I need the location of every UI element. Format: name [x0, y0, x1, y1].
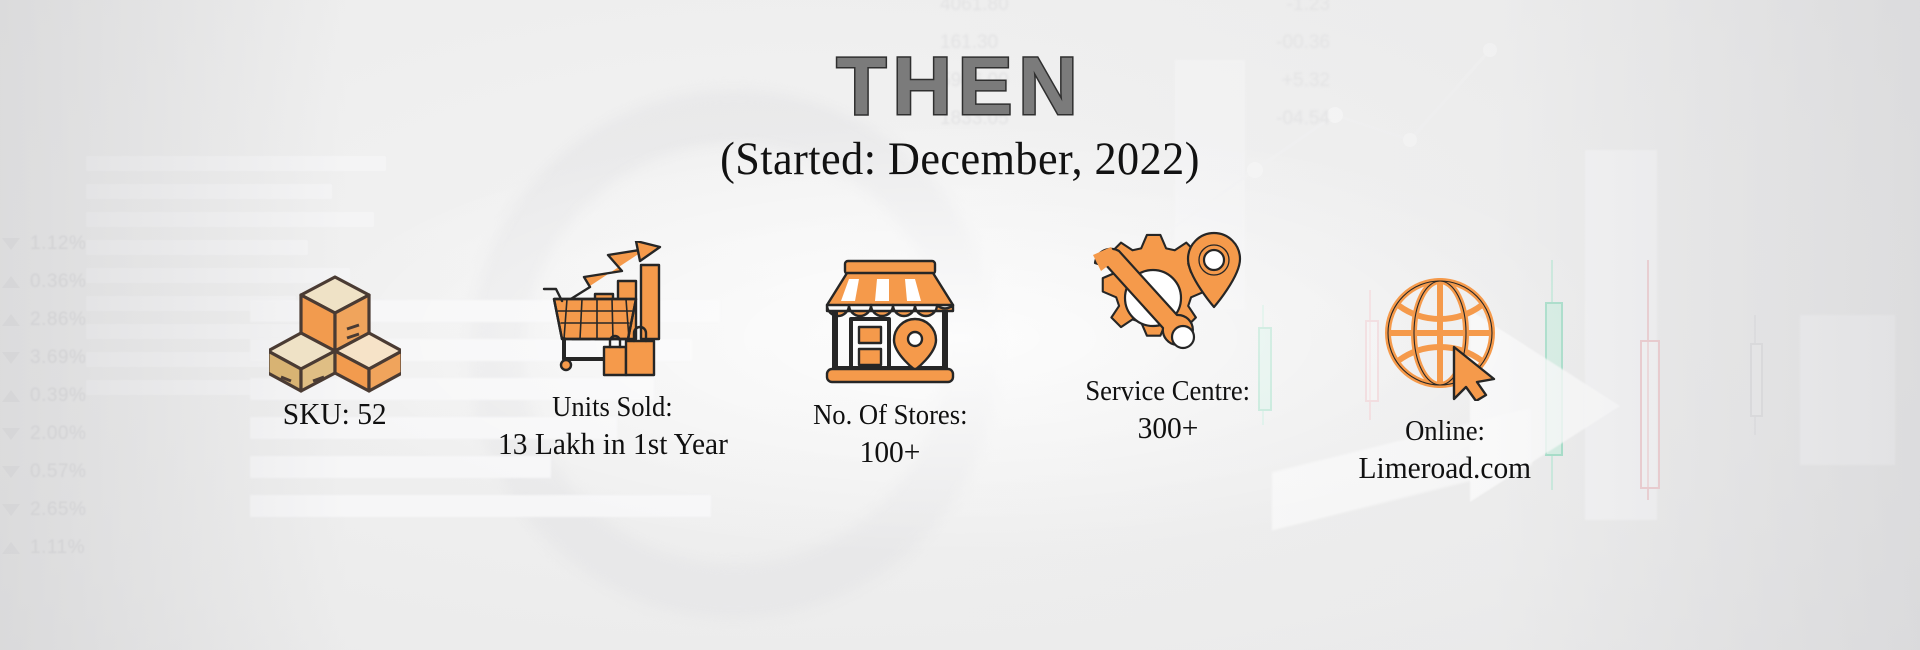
stat-label-online: Online: — [1405, 415, 1485, 449]
header: THEN (Started: December, 2022) — [0, 48, 1920, 186]
bg-ticker-value: 1.11% — [30, 537, 85, 559]
infographic-stage: 1.12%0.36%2.86%3.69%0.39%2.00%0.57%2.65%… — [0, 0, 1920, 650]
triangle-up-icon — [2, 390, 20, 402]
bg-ticker-value: 0.39% — [30, 385, 86, 407]
stat-value-service-centre: 300+ — [1137, 409, 1198, 446]
bg-bar-2 — [1800, 315, 1895, 465]
stat-card-sku[interactable]: SKU: 52 — [210, 265, 460, 432]
bg-ticker-value: 2.86% — [30, 309, 86, 331]
stat-label-service-centre: Service Centre: — [1085, 375, 1250, 409]
gear-wrench-location-icon — [1089, 231, 1247, 361]
triangle-down-icon — [2, 428, 20, 440]
storefront-location-icon — [821, 255, 959, 385]
bg-ticker-row: 0.57% — [0, 453, 236, 491]
bg-bar-1 — [1585, 150, 1657, 520]
stacked-boxes-icon — [269, 265, 401, 395]
stat-card-online[interactable]: Online: Limeroad.com — [1320, 271, 1570, 486]
bg-ticker-row: 1.12% — [0, 225, 236, 263]
bg-candle-red — [1640, 260, 1656, 500]
triangle-down-icon — [2, 504, 20, 516]
bg-quote-price: 4061.80 — [940, 0, 1009, 32]
triangle-up-icon — [2, 314, 20, 326]
shopping-cart-growth-icon — [542, 247, 684, 377]
bg-ticker-value: 0.36% — [30, 271, 86, 293]
stat-card-stores[interactable]: No. Of Stores: 100+ — [765, 255, 1015, 470]
bg-ticker-value: 1.12% — [30, 233, 86, 255]
stat-value-sku: SKU: 52 — [283, 395, 387, 432]
bg-quote-change: -1.23 — [1287, 0, 1330, 32]
page-title: THEN — [0, 48, 1920, 126]
globe-cursor-icon — [1382, 271, 1508, 401]
bg-ticker-value: 2.65% — [30, 499, 86, 521]
bg-quote-row: 4061.80-1.23 — [940, 0, 1330, 32]
stat-card-units-sold[interactable]: Units Sold: 13 Lakh in 1st Year — [488, 247, 738, 462]
stat-value-stores: 100+ — [860, 433, 921, 470]
stat-value-online: Limeroad.com — [1359, 449, 1532, 486]
bg-ticker-value: 3.69% — [30, 347, 86, 369]
stat-card-service-centre[interactable]: Service Centre: 300+ — [1043, 231, 1293, 446]
stats-row: SKU: 52 — [210, 225, 1570, 486]
bg-ticker-row: 1.11% — [0, 529, 236, 567]
triangle-down-icon — [2, 238, 20, 250]
bg-ticker-value: 0.57% — [30, 461, 86, 483]
bg-ticker-row: 2.65% — [0, 491, 236, 529]
triangle-up-icon — [2, 276, 20, 288]
bg-candle-teal-3 — [1750, 315, 1759, 435]
bg-panel-row — [250, 495, 711, 517]
triangle-down-icon — [2, 352, 20, 364]
stat-value-units-sold: 13 Lakh in 1st Year — [498, 425, 728, 462]
triangle-up-icon — [2, 542, 20, 554]
page-subtitle: (Started: December, 2022) — [58, 134, 1863, 186]
bg-ticker-row: 3.69% — [0, 339, 236, 377]
stat-label-stores: No. Of Stores: — [813, 399, 967, 433]
bg-list-row — [86, 184, 332, 199]
bg-ticker-value: 2.00% — [30, 423, 86, 445]
bg-ticker-row: 0.39% — [0, 377, 236, 415]
bg-ticker-row: 2.00% — [0, 415, 236, 453]
stat-label-units-sold: Units Sold: — [552, 391, 672, 425]
bg-ticker-list: 1.12%0.36%2.86%3.69%0.39%2.00%0.57%2.65%… — [0, 225, 236, 567]
triangle-down-icon — [2, 466, 20, 478]
bg-ticker-row: 2.86% — [0, 301, 236, 339]
bg-ticker-row: 0.36% — [0, 263, 236, 301]
